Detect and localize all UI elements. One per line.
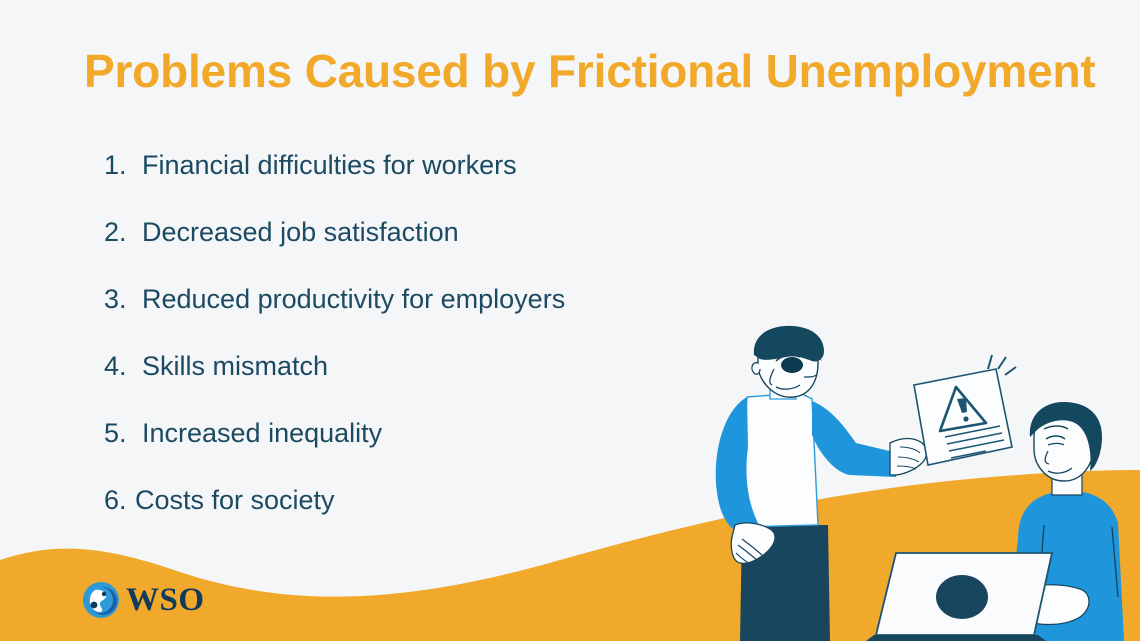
globe-icon	[82, 581, 120, 619]
slide-canvas: Problems Caused by Frictional Unemployme…	[0, 0, 1140, 641]
list-item: 5. Increased inequality	[104, 420, 764, 487]
list-item-label: Costs for society	[135, 487, 335, 514]
list-item-number: 4.	[104, 353, 142, 380]
list-item-label: Reduced productivity for employers	[142, 286, 565, 313]
page-title: Problems Caused by Frictional Unemployme…	[84, 46, 1114, 98]
list-item-number: 6.	[104, 487, 135, 514]
list-item: 4. Skills mismatch	[104, 353, 764, 420]
list-item-number: 5.	[104, 420, 142, 447]
list-item-label: Financial difficulties for workers	[142, 152, 517, 179]
list-item: 2. Decreased job satisfaction	[104, 219, 764, 286]
list-item: 6. Costs for society	[104, 487, 764, 554]
wso-logo: WSO	[82, 578, 205, 622]
problem-list: 1. Financial difficulties for workers 2.…	[104, 152, 764, 554]
list-item-label: Increased inequality	[142, 420, 382, 447]
illustration-graphic	[700, 325, 1140, 641]
list-item: 3. Reduced productivity for employers	[104, 286, 764, 353]
list-item: 1. Financial difficulties for workers	[104, 152, 764, 219]
laptop	[866, 553, 1052, 641]
wso-wordmark: WSO	[126, 584, 205, 617]
list-item-number: 1.	[104, 152, 142, 179]
warning-document	[914, 355, 1016, 465]
list-item-label: Skills mismatch	[142, 353, 328, 380]
list-item-label: Decreased job satisfaction	[142, 219, 459, 246]
list-item-number: 2.	[104, 219, 142, 246]
list-item-number: 3.	[104, 286, 142, 313]
